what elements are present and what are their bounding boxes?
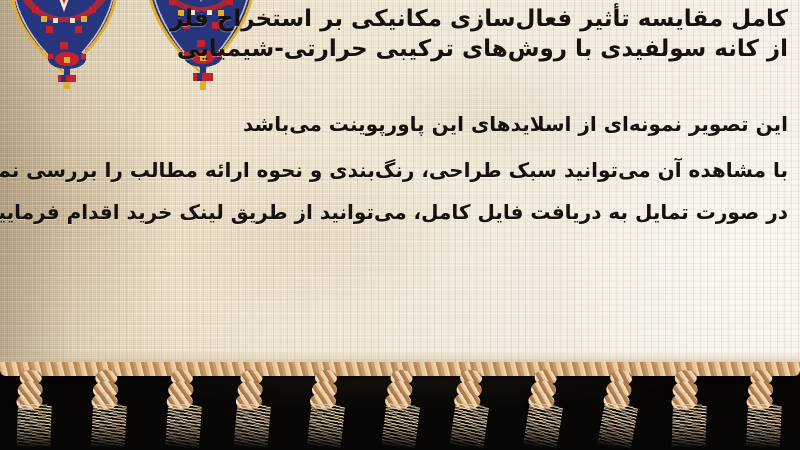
tassel-strands — [91, 403, 127, 449]
tassel-strands — [381, 402, 420, 450]
slide-body-line-3: در صورت تمایل به دریافت فایل کامل، می‌تو… — [0, 198, 788, 226]
tassel-strands — [597, 401, 638, 450]
tassel — [449, 367, 492, 450]
slide-canvas: کامل مقایسه تأثیر فعال‌سازی مکانیکی بر ا… — [0, 0, 800, 450]
tassel-strands — [307, 402, 345, 449]
tassel-strands — [233, 403, 271, 450]
tassel — [12, 367, 58, 450]
tassel — [307, 368, 347, 450]
tassel-strands — [523, 402, 563, 450]
tassel-fringe — [0, 362, 800, 450]
slide-title-line-2: از کانه سولفیدی با روش‌های ترکیبی حرارتی… — [177, 34, 788, 64]
tassel — [666, 367, 712, 450]
tassel-strands — [671, 403, 707, 448]
slide-body-line-2: با مشاهده آن می‌توانید سبک طراحی، رنگ‌بن… — [0, 156, 788, 184]
tassel — [523, 367, 567, 450]
tassel-strands — [745, 403, 781, 449]
tassel-strands — [449, 402, 489, 450]
slide-body-line-1: این تصویر نمونه‌ای از اسلایدهای این پاور… — [243, 110, 788, 138]
tassel-strands — [17, 403, 53, 448]
tassel — [381, 368, 422, 450]
tassel — [597, 367, 643, 450]
tassel — [232, 368, 273, 450]
tassel — [87, 367, 131, 450]
slide-title-line-1: کامل مقایسه تأثیر فعال‌سازی مکانیکی بر ا… — [170, 4, 788, 34]
tassel — [162, 367, 205, 450]
tassel-strands — [165, 403, 202, 449]
tassel — [742, 367, 786, 450]
text-layer: کامل مقایسه تأثیر فعال‌سازی مکانیکی بر ا… — [0, 0, 800, 378]
